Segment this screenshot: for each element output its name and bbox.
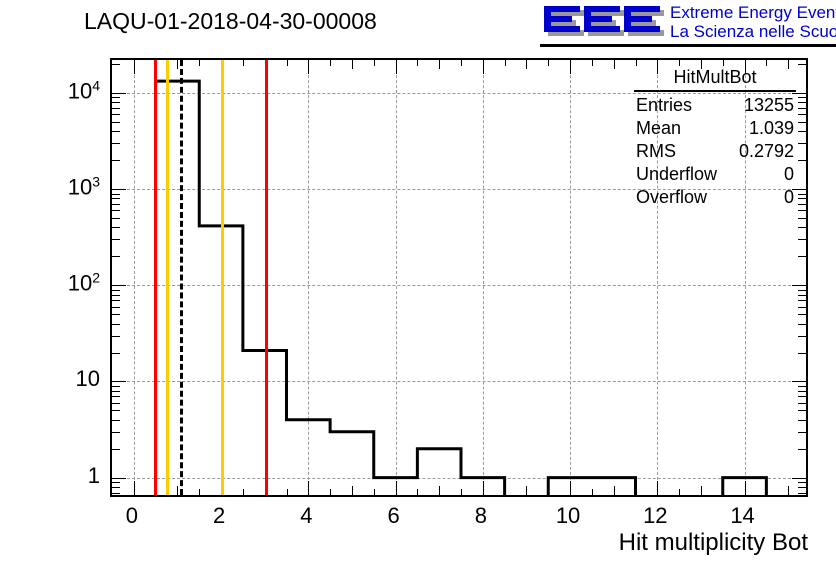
stats-row-value: 0: [784, 163, 794, 186]
x-axis-title: Hit multiplicity Bot: [619, 529, 808, 557]
x-tick-label: 14: [730, 503, 754, 529]
x-tick-label: 10: [556, 503, 580, 529]
y-tick-label: 1: [8, 463, 100, 489]
stats-box: HitMultBot Entries13255Mean1.039RMS0.279…: [632, 66, 798, 209]
stats-row-label: Entries: [636, 94, 692, 117]
x-tick-label: 2: [213, 503, 225, 529]
stats-row: Entries13255: [632, 94, 798, 117]
y-tick-label: 10: [8, 366, 100, 392]
stats-row-value: 1.039: [749, 117, 794, 140]
x-tick-label: 4: [300, 503, 312, 529]
y-tick-label: 103: [8, 173, 100, 200]
stats-row-value: 13255: [744, 94, 794, 117]
y-tick-label: 104: [8, 77, 100, 104]
stats-row-label: RMS: [636, 140, 676, 163]
eee-logo: Extreme Energy Events La Scienza nelle S…: [540, 2, 832, 44]
logo-line-1: Extreme Energy Events: [670, 3, 836, 22]
stats-row: RMS0.2792: [632, 140, 798, 163]
stats-row: Overflow0: [632, 186, 798, 209]
eee-monogram-icon: [540, 3, 670, 41]
stats-title: HitMultBot: [634, 66, 796, 92]
marker-line: [180, 60, 183, 495]
marker-line: [265, 60, 268, 495]
stats-row-label: Underflow: [636, 163, 717, 186]
stats-row-value: 0: [784, 186, 794, 209]
y-tick-label: 102: [8, 270, 100, 297]
x-tick-label: 0: [126, 503, 138, 529]
x-tick-label: 6: [387, 503, 399, 529]
marker-line: [166, 60, 169, 495]
logo-line-2: La Scienza nelle Scuole: [670, 22, 836, 41]
stats-row: Underflow0: [632, 163, 798, 186]
marker-line: [154, 60, 157, 495]
x-tick-label: 8: [475, 503, 487, 529]
stats-row: Mean1.039: [632, 117, 798, 140]
stats-rows: Entries13255Mean1.039RMS0.2792Underflow0…: [632, 94, 798, 209]
x-tick-label: 12: [643, 503, 667, 529]
header-divider: [540, 44, 836, 47]
page-title: LAQU-01-2018-04-30-00008: [84, 8, 377, 35]
stats-row-label: Mean: [636, 117, 681, 140]
stats-row-label: Overflow: [636, 186, 707, 209]
stats-row-value: 0.2792: [739, 140, 794, 163]
marker-line: [221, 60, 224, 495]
logo-text: Extreme Energy Events La Scienza nelle S…: [670, 3, 836, 41]
